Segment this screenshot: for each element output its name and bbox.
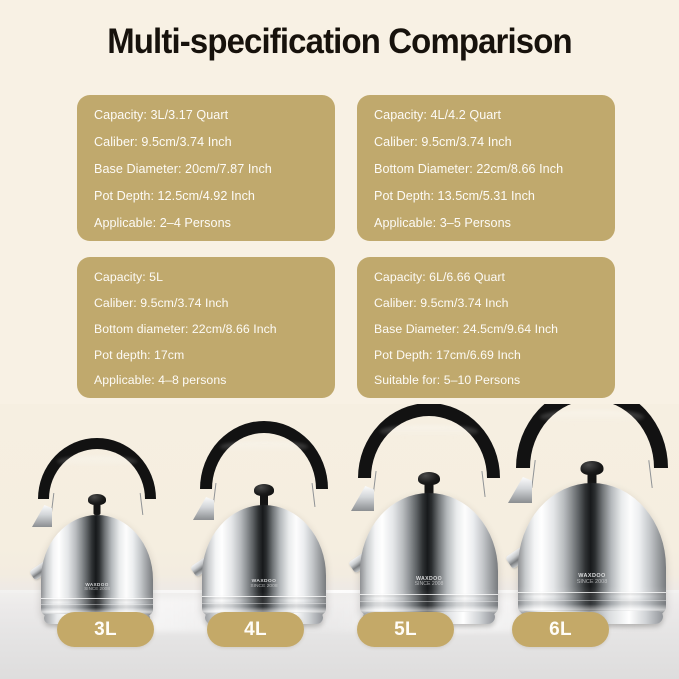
infographic-page: Multi-specification Comparison Capacity:… bbox=[0, 0, 679, 679]
spec-line-pot-depth: Pot depth: 17cm bbox=[94, 349, 319, 363]
spec-line-capacity: Capacity: 5L bbox=[94, 271, 319, 285]
lid-knob bbox=[254, 484, 274, 496]
spec-line-caliber: Caliber: 9.5cm/3.74 Inch bbox=[94, 136, 319, 150]
spec-card-5l: Capacity: 5L Caliber: 9.5cm/3.74 Inch Bo… bbox=[77, 257, 335, 398]
size-pill-label: 3L bbox=[94, 619, 117, 641]
brand-sub: SINCE 2008 bbox=[84, 587, 110, 592]
spec-line-pot-depth: Pot Depth: 12.5cm/4.92 Inch bbox=[94, 190, 319, 204]
spec-line-applicable: Applicable: 2–4 Persons bbox=[94, 217, 319, 231]
kettle-handle bbox=[516, 404, 668, 468]
spec-card-4l: Capacity: 4L/4.2 Quart Caliber: 9.5cm/3.… bbox=[357, 95, 615, 241]
brand-sub: SINCE 2008 bbox=[415, 582, 444, 587]
brand-sub: SINCE 2008 bbox=[577, 580, 608, 586]
size-pill-3l[interactable]: 3L bbox=[57, 612, 154, 647]
spec-line-bottom-diameter: Bottom diameter: 22cm/8.66 Inch bbox=[94, 323, 319, 337]
spec-line-base-diameter: Base Diameter: 20cm/7.87 Inch bbox=[94, 163, 319, 177]
spec-line-caliber: Caliber: 9.5cm/3.74 Inch bbox=[374, 136, 599, 150]
spout-whistle-cap bbox=[32, 505, 52, 527]
spec-card-6l: Capacity: 6L/6.66 Quart Caliber: 9.5cm/3… bbox=[357, 257, 615, 398]
spout-whistle-cap bbox=[193, 497, 214, 520]
kettle-body bbox=[202, 505, 326, 619]
spec-line-applicable: Applicable: 4–8 persons bbox=[94, 374, 319, 388]
spec-line-base-diameter: Base Diameter: 24.5cm/9.64 Inch bbox=[374, 323, 599, 337]
kettle-handle bbox=[38, 438, 156, 499]
spec-line-caliber: Caliber: 9.5cm/3.74 Inch bbox=[94, 297, 319, 311]
spec-line-pot-depth: Pot Depth: 17cm/6.69 Inch bbox=[374, 349, 599, 363]
brand-sub: SINCE 2008 bbox=[250, 585, 277, 590]
spec-card-grid: Capacity: 3L/3.17 Quart Caliber: 9.5cm/3… bbox=[77, 95, 615, 398]
kettle-3l: WAXDOO SINCE 2008 bbox=[22, 429, 172, 619]
kettle-handle bbox=[358, 404, 500, 478]
spec-card-3l: Capacity: 3L/3.17 Quart Caliber: 9.5cm/3… bbox=[77, 95, 335, 241]
kettle-body bbox=[360, 493, 498, 619]
spec-line-applicable: Applicable: 3–5 Persons bbox=[374, 217, 599, 231]
kettle-body bbox=[41, 515, 153, 619]
brand-label: WAXDOO SINCE 2008 bbox=[250, 580, 277, 590]
spec-line-suitable-for: Suitable for: 5–10 Persons bbox=[374, 374, 599, 388]
spec-line-capacity: Capacity: 4L/4.2 Quart bbox=[374, 109, 599, 123]
lid-knob bbox=[88, 494, 106, 505]
kettle-4l: WAXDOO SINCE 2008 bbox=[183, 414, 345, 619]
size-pill-label: 6L bbox=[549, 619, 572, 641]
kettle-handle bbox=[200, 421, 328, 489]
brand-label: WAXDOO SINCE 2008 bbox=[577, 574, 608, 585]
kettle-6l: WAXDOO SINCE 2008 bbox=[497, 404, 679, 619]
product-photo: WAXDOO SINCE 2008 WAXDOO SINCE 2008 bbox=[0, 404, 679, 679]
lid-knob bbox=[418, 472, 440, 485]
lid-knob bbox=[581, 461, 604, 475]
spec-line-bottom-diameter: Bottom Diameter: 22cm/8.66 Inch bbox=[374, 163, 599, 177]
spec-line-capacity: Capacity: 6L/6.66 Quart bbox=[374, 271, 599, 285]
spec-line-pot-depth: Pot Depth: 13.5cm/5.31 Inch bbox=[374, 190, 599, 204]
size-pill-label: 4L bbox=[244, 619, 267, 641]
brand-label: WAXDOO SINCE 2008 bbox=[415, 577, 444, 587]
size-pill-4l[interactable]: 4L bbox=[207, 612, 304, 647]
kettle-body bbox=[518, 483, 666, 619]
size-pill-label: 5L bbox=[394, 619, 417, 641]
size-pill-6l[interactable]: 6L bbox=[512, 612, 609, 647]
spec-line-capacity: Capacity: 3L/3.17 Quart bbox=[94, 109, 319, 123]
brand-label: WAXDOO SINCE 2008 bbox=[84, 583, 110, 592]
size-pill-5l[interactable]: 5L bbox=[357, 612, 454, 647]
spout-whistle-cap bbox=[508, 477, 532, 503]
page-title: Multi-specification Comparison bbox=[20, 22, 658, 62]
spec-line-caliber: Caliber: 9.5cm/3.74 Inch bbox=[374, 297, 599, 311]
spout-whistle-cap bbox=[351, 486, 374, 511]
kettle-5l: WAXDOO SINCE 2008 bbox=[340, 404, 518, 619]
